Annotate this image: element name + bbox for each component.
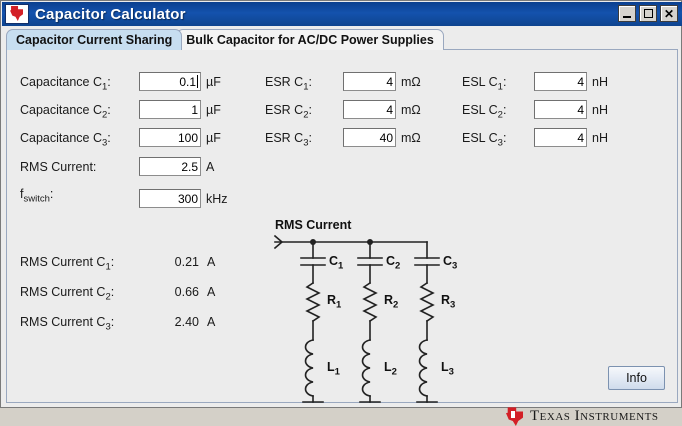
application-window: Capacitor Calculator ✕ Capacitor Current… (0, 0, 682, 408)
esl-1-input[interactable]: 4 (534, 72, 587, 91)
schematic-l1-label: L1 (327, 360, 340, 378)
ti-mark-icon (506, 407, 523, 426)
schematic-r3-label: R3 (441, 293, 455, 311)
esl-3-unit: nH (592, 131, 608, 145)
esr-1-label: ESR C1: (265, 75, 312, 93)
tab-bar: Capacitor Current Sharing Bulk Capacitor… (6, 29, 678, 50)
result-1-label: RMS Current C1: (20, 255, 114, 273)
maximize-button[interactable] (639, 5, 657, 22)
result-1-value: 0.21 (165, 255, 199, 269)
tab-capacitor-current-sharing[interactable]: Capacitor Current Sharing (6, 29, 182, 50)
close-icon: ✕ (664, 8, 674, 20)
result-3-value: 2.40 (165, 315, 199, 329)
rms-current-label: RMS Current: (20, 160, 96, 174)
ti-wordmark: Texas Instruments (530, 408, 658, 425)
capacitance-2-input[interactable]: 1 (139, 100, 201, 119)
texas-instruments-logo: Texas Instruments (506, 407, 658, 426)
capacitance-2-label: Capacitance C2: (20, 103, 111, 121)
window-title: Capacitor Calculator (35, 6, 186, 23)
schematic-r1-label: R1 (327, 293, 341, 311)
capacitance-3-input[interactable]: 100 (139, 128, 201, 147)
capacitance-1-input[interactable]: 0.1 (139, 72, 201, 91)
schematic-svg (267, 218, 482, 408)
ti-logo-icon (5, 4, 29, 24)
schematic-r2-label: R2 (384, 293, 398, 311)
tab-bulk-capacitor[interactable]: Bulk Capacitor for AC/DC Power Supplies (176, 29, 444, 50)
title-bar: Capacitor Calculator ✕ (2, 2, 682, 26)
esr-3-unit: mΩ (401, 131, 421, 145)
tab-label: Bulk Capacitor for AC/DC Power Supplies (186, 33, 434, 47)
fswitch-input[interactable]: 300 (139, 189, 201, 208)
info-button[interactable]: Info (608, 366, 665, 390)
result-2-label: RMS Current C2: (20, 285, 114, 303)
esl-2-label: ESL C2: (462, 103, 506, 121)
info-button-label: Info (626, 371, 647, 385)
result-2-unit: A (207, 285, 215, 299)
esr-3-input[interactable]: 40 (343, 128, 396, 147)
capacitance-1-label: Capacitance C1: (20, 75, 111, 93)
capacitance-1-unit: µF (206, 75, 221, 89)
capacitance-3-label: Capacitance C3: (20, 131, 111, 149)
esr-2-unit: mΩ (401, 103, 421, 117)
main-panel: Capacitance C1: 0.1 µF Capacitance C2: 1… (6, 49, 678, 403)
schematic-c3-label: C3 (443, 254, 457, 272)
schematic-c1-label: C1 (329, 254, 343, 272)
rms-current-input[interactable]: 2.5 (139, 157, 201, 176)
esl-3-label: ESL C3: (462, 131, 506, 149)
esr-1-input[interactable]: 4 (343, 72, 396, 91)
esl-2-input[interactable]: 4 (534, 100, 587, 119)
esl-3-input[interactable]: 4 (534, 128, 587, 147)
schematic-c2-label: C2 (386, 254, 400, 272)
window-controls: ✕ (618, 5, 678, 22)
tab-label: Capacitor Current Sharing (16, 33, 172, 47)
schematic-l2-label: L2 (384, 360, 397, 378)
esr-3-label: ESR C3: (265, 131, 312, 149)
esl-2-unit: nH (592, 103, 608, 117)
result-3-unit: A (207, 315, 215, 329)
esl-1-label: ESL C1: (462, 75, 506, 93)
esr-2-label: ESR C2: (265, 103, 312, 121)
minimize-button[interactable] (618, 5, 636, 22)
maximize-icon (644, 9, 653, 18)
rms-current-unit: A (206, 160, 214, 174)
schematic-l3-label: L3 (441, 360, 454, 378)
minimize-icon (623, 16, 631, 18)
fswitch-label: fswitch: (20, 187, 53, 205)
esr-1-unit: mΩ (401, 75, 421, 89)
result-1-unit: A (207, 255, 215, 269)
capacitance-3-unit: µF (206, 131, 221, 145)
result-2-value: 0.66 (165, 285, 199, 299)
close-button[interactable]: ✕ (660, 5, 678, 22)
esl-1-unit: nH (592, 75, 608, 89)
circuit-schematic: RMS Current (267, 218, 482, 408)
capacitance-2-unit: µF (206, 103, 221, 117)
esr-2-input[interactable]: 4 (343, 100, 396, 119)
fswitch-unit: kHz (206, 192, 228, 206)
result-3-label: RMS Current C3: (20, 315, 114, 333)
schematic-source-label: RMS Current (275, 218, 351, 232)
